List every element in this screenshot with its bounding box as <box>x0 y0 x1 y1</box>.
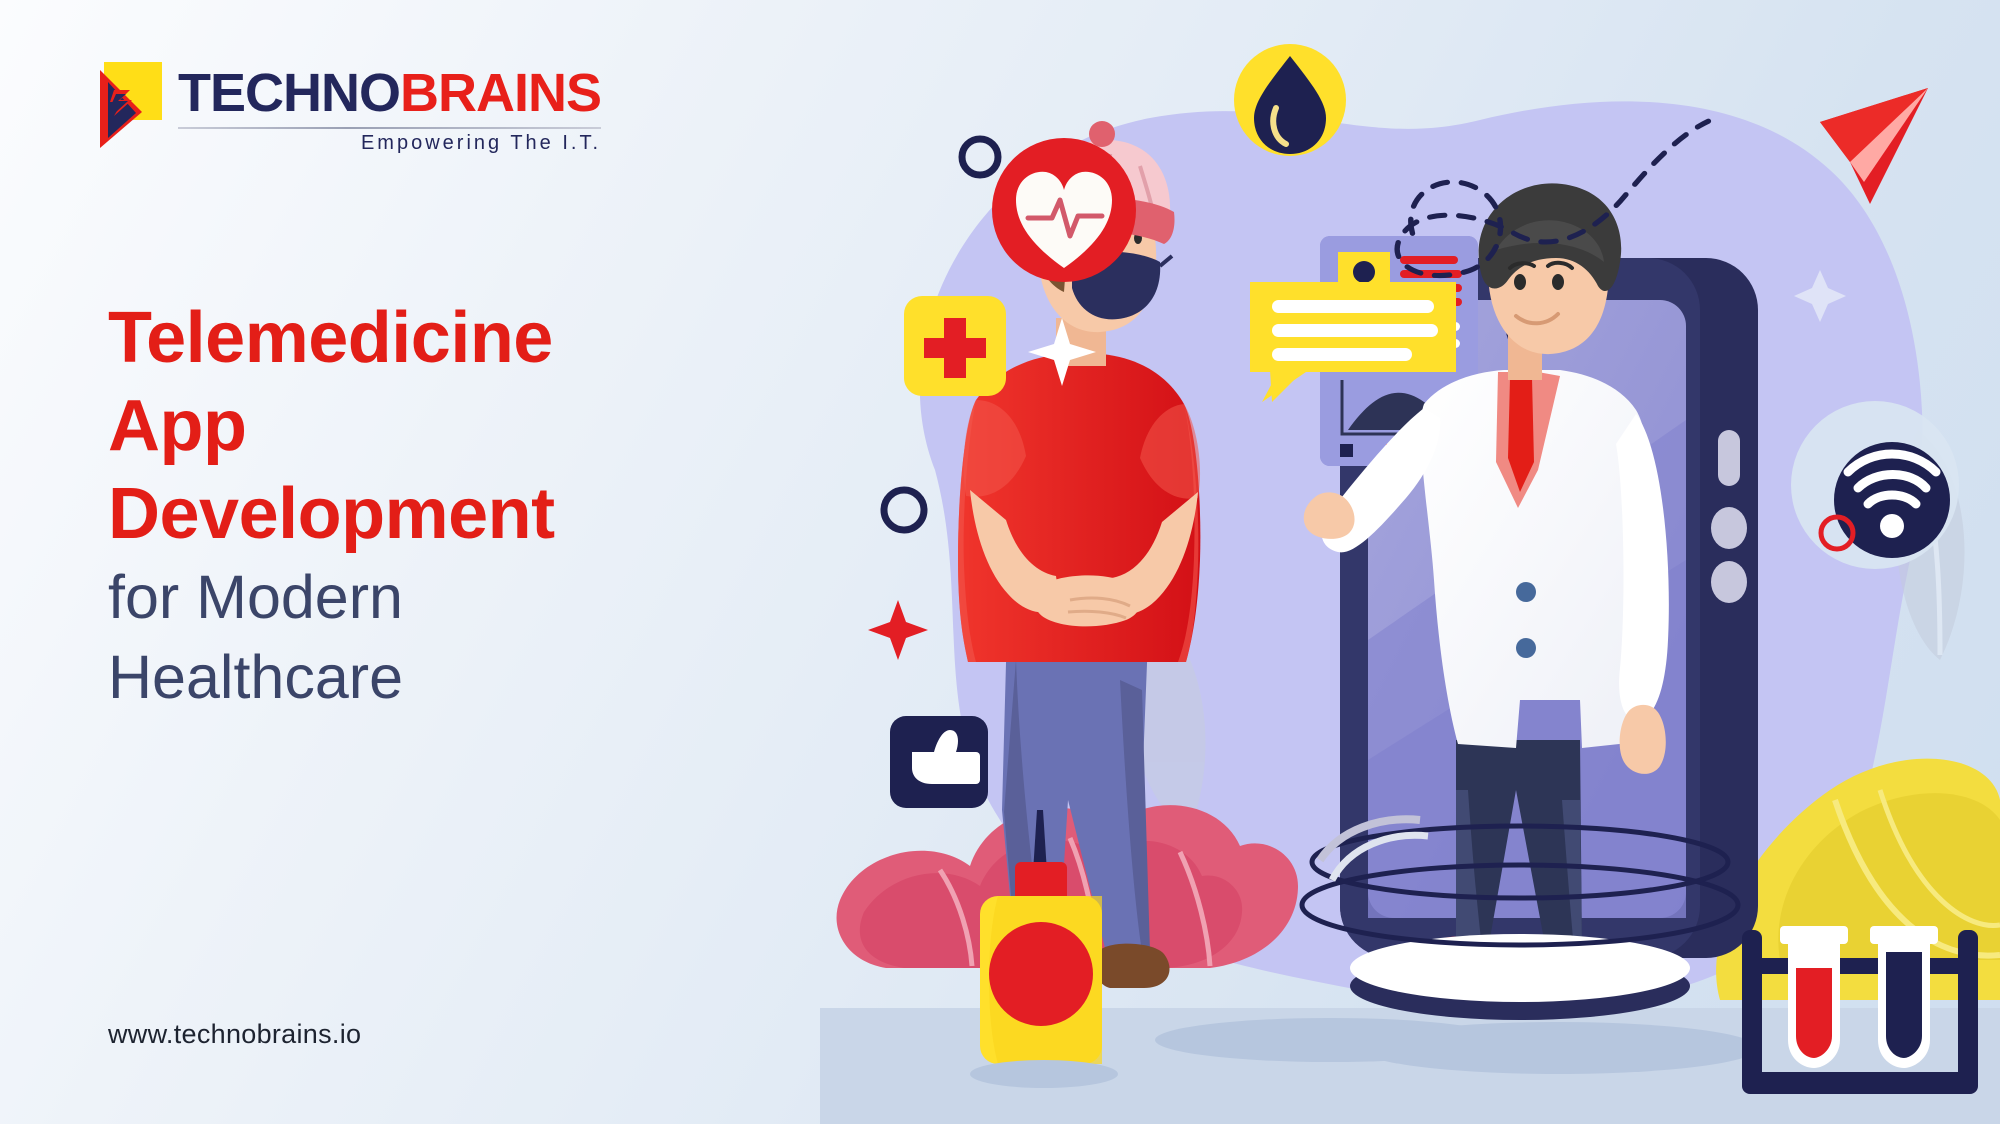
ring-outline-navy-icon-2 <box>884 490 924 530</box>
headline-line-2: App <box>108 383 788 471</box>
logo-word-brains: BRAINS <box>400 63 601 123</box>
logo-tagline: Empowering The I.T. <box>178 132 601 155</box>
medical-cross-icon <box>904 296 1006 396</box>
logo-word-techno: TECHNO <box>178 63 400 123</box>
banner-canvas: TECHNOBRAINS Empowering The I.T. Telemed… <box>0 0 2000 1124</box>
doctor-shadow <box>1358 1022 1758 1074</box>
headline-line-1: Telemedicine <box>108 295 788 383</box>
ring-outline-navy-icon <box>962 139 998 175</box>
headline-line-3: Development <box>108 471 788 559</box>
website-url[interactable]: www.technobrains.io <box>108 1019 361 1050</box>
subhead-line-1: for Modern <box>108 558 788 637</box>
technobrains-arrow-logomark-icon <box>96 62 162 150</box>
sparkle-red-icon <box>868 600 928 660</box>
brand-logo[interactable]: TECHNOBRAINS Empowering The I.T. <box>96 62 601 155</box>
wifi-icon <box>1791 401 1959 569</box>
telemedicine-illustration <box>820 0 2000 1124</box>
heart-pulse-icon <box>992 138 1136 282</box>
hero-text-block: Telemedicine App Development for Modern … <box>108 295 788 717</box>
logo-divider <box>178 127 601 129</box>
thumbs-up-icon <box>890 716 988 808</box>
logo-wordmark: TECHNOBRAINS <box>178 66 601 120</box>
subhead-line-2: Healthcare <box>108 638 788 717</box>
phone-button-3 <box>1711 561 1747 603</box>
water-drop-icon <box>1234 44 1346 156</box>
phone-button-2 <box>1711 507 1747 549</box>
phone-button-1 <box>1718 430 1740 486</box>
